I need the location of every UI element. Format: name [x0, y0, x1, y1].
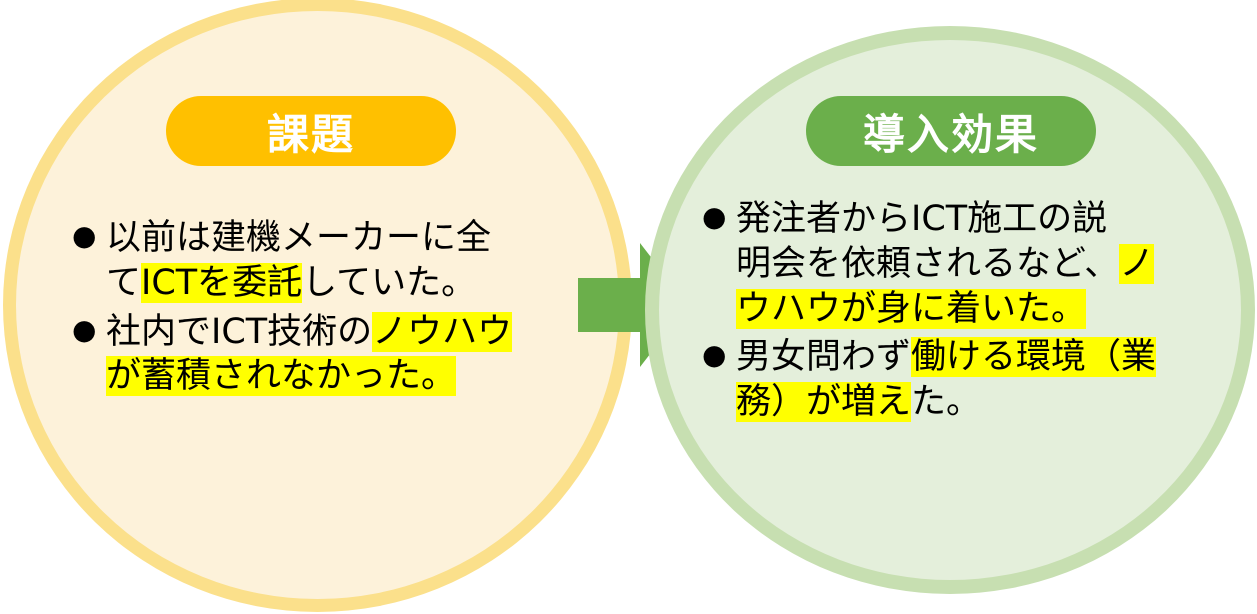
diagram-canvas: 課題 ● 以前は建機メーカーに全 てICTを委託していた。 ● 社内でICT技術…: [0, 0, 1257, 614]
text-run: 男女問わず: [736, 337, 911, 377]
text-run: て: [106, 263, 141, 303]
bullet-dot-icon: ●: [702, 197, 736, 238]
text-run: 発注者からICT施工の説: [736, 199, 1107, 239]
challenge-item-1-text: 以前は建機メーカーに全 てICTを委託していた。: [106, 216, 577, 306]
bullet-dot-icon: ●: [72, 216, 106, 257]
effect-bullet-list: ● 発注者からICT施工の説 明会を依頼されるなど、ノ ウハウが身に着いた。 ●…: [702, 197, 1207, 429]
list-item: ● 以前は建機メーカーに全 てICTを委託していた。: [72, 216, 577, 306]
bullet-dot-icon: ●: [702, 335, 736, 376]
highlighted-text-run: ウハウが身に着いた。: [736, 289, 1086, 329]
list-item: ● 男女問わず働ける環境（業 務）が増えた。: [702, 335, 1207, 425]
text-run: 明会を依頼されるなど、: [736, 244, 1119, 284]
highlighted-text-run: 働ける環境（業: [911, 337, 1156, 377]
challenge-title-label: 課題: [267, 101, 355, 162]
bullet-dot-icon: ●: [72, 310, 106, 351]
highlighted-text-run: 務）が増え: [736, 382, 911, 422]
highlighted-text-run: が蓄積されなかった。: [106, 356, 456, 396]
effect-title-pill: 導入効果: [806, 96, 1096, 166]
effect-item-1-text: 発注者からICT施工の説 明会を依頼されるなど、ノ ウハウが身に着いた。: [736, 197, 1207, 331]
text-run: 社内でICT技術の: [106, 312, 372, 352]
challenge-item-2-text: 社内でICT技術のノウハウ が蓄積されなかった。: [106, 310, 577, 400]
highlighted-text-run: ICTを委託: [141, 263, 302, 303]
challenge-title-pill: 課題: [166, 96, 456, 166]
list-item: ● 社内でICT技術のノウハウ が蓄積されなかった。: [72, 310, 577, 400]
text-run: していた。: [302, 263, 476, 303]
highlighted-text-run: ノ: [1119, 244, 1154, 284]
list-item: ● 発注者からICT施工の説 明会を依頼されるなど、ノ ウハウが身に着いた。: [702, 197, 1207, 331]
text-run: 以前は建機メーカーに全: [106, 218, 491, 258]
text-run: た。: [911, 382, 981, 422]
effect-item-2-text: 男女問わず働ける環境（業 務）が増えた。: [736, 335, 1207, 425]
effect-title-label: 導入効果: [863, 101, 1039, 162]
challenge-bullet-list: ● 以前は建機メーカーに全 てICTを委託していた。 ● 社内でICT技術のノウ…: [72, 216, 577, 403]
highlighted-text-run: ノウハウ: [372, 312, 512, 352]
